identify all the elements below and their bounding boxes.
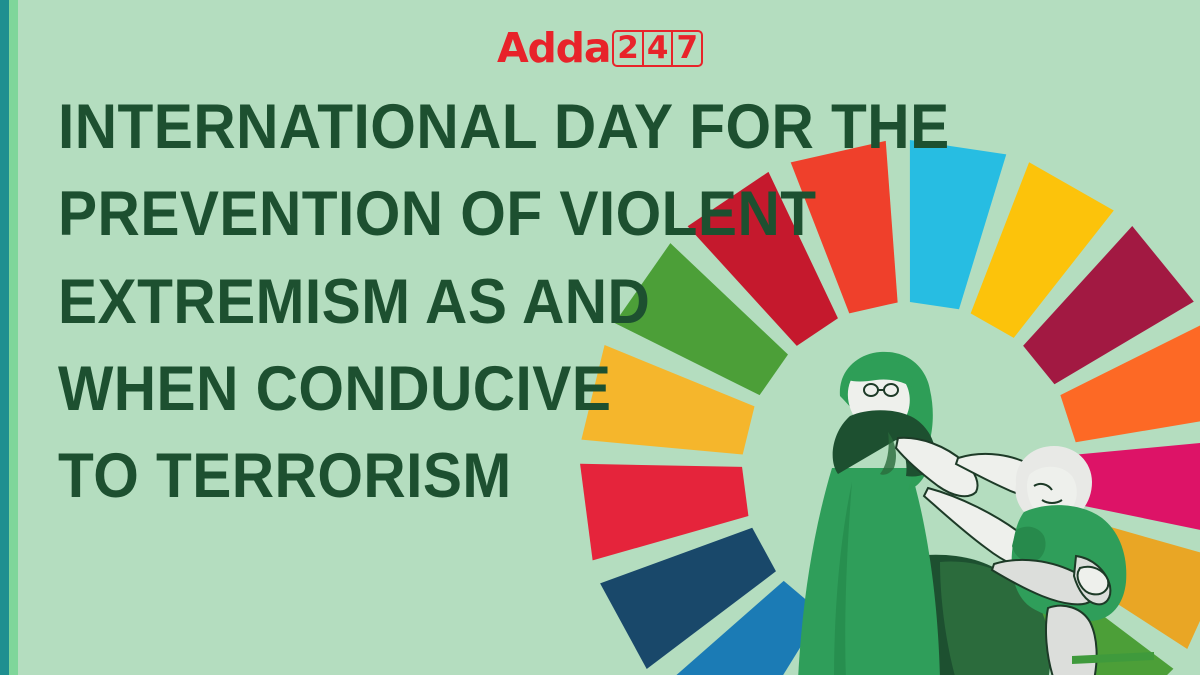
headline-line-3: EXTREMISM AS AND — [58, 271, 858, 333]
logo-247-box: 2 4 7 — [612, 30, 703, 67]
logo-wordmark: Adda — [497, 28, 610, 69]
left-edge-green-stripe — [9, 0, 18, 675]
headline-line-1: INTERNATIONAL DAY FOR THE — [58, 96, 858, 158]
left-edge-teal-stripe — [0, 0, 9, 675]
logo-digit-4: 4 — [642, 32, 672, 65]
poster-canvas: Adda 2 4 7 INTERNATIONAL DAY FOR THE PRE… — [0, 0, 1200, 675]
adda247-logo[interactable]: Adda 2 4 7 — [0, 22, 1200, 74]
page-title: INTERNATIONAL DAY FOR THE PREVENTION OF … — [58, 96, 918, 533]
logo-digit-2: 2 — [614, 32, 642, 65]
headline-line-2: PREVENTION OF VIOLENT — [58, 183, 858, 245]
headline-line-5: TO TERRORISM — [58, 445, 858, 507]
headline-line-4: WHEN CONDUCIVE — [58, 358, 858, 420]
logo-digit-7: 7 — [671, 32, 701, 65]
